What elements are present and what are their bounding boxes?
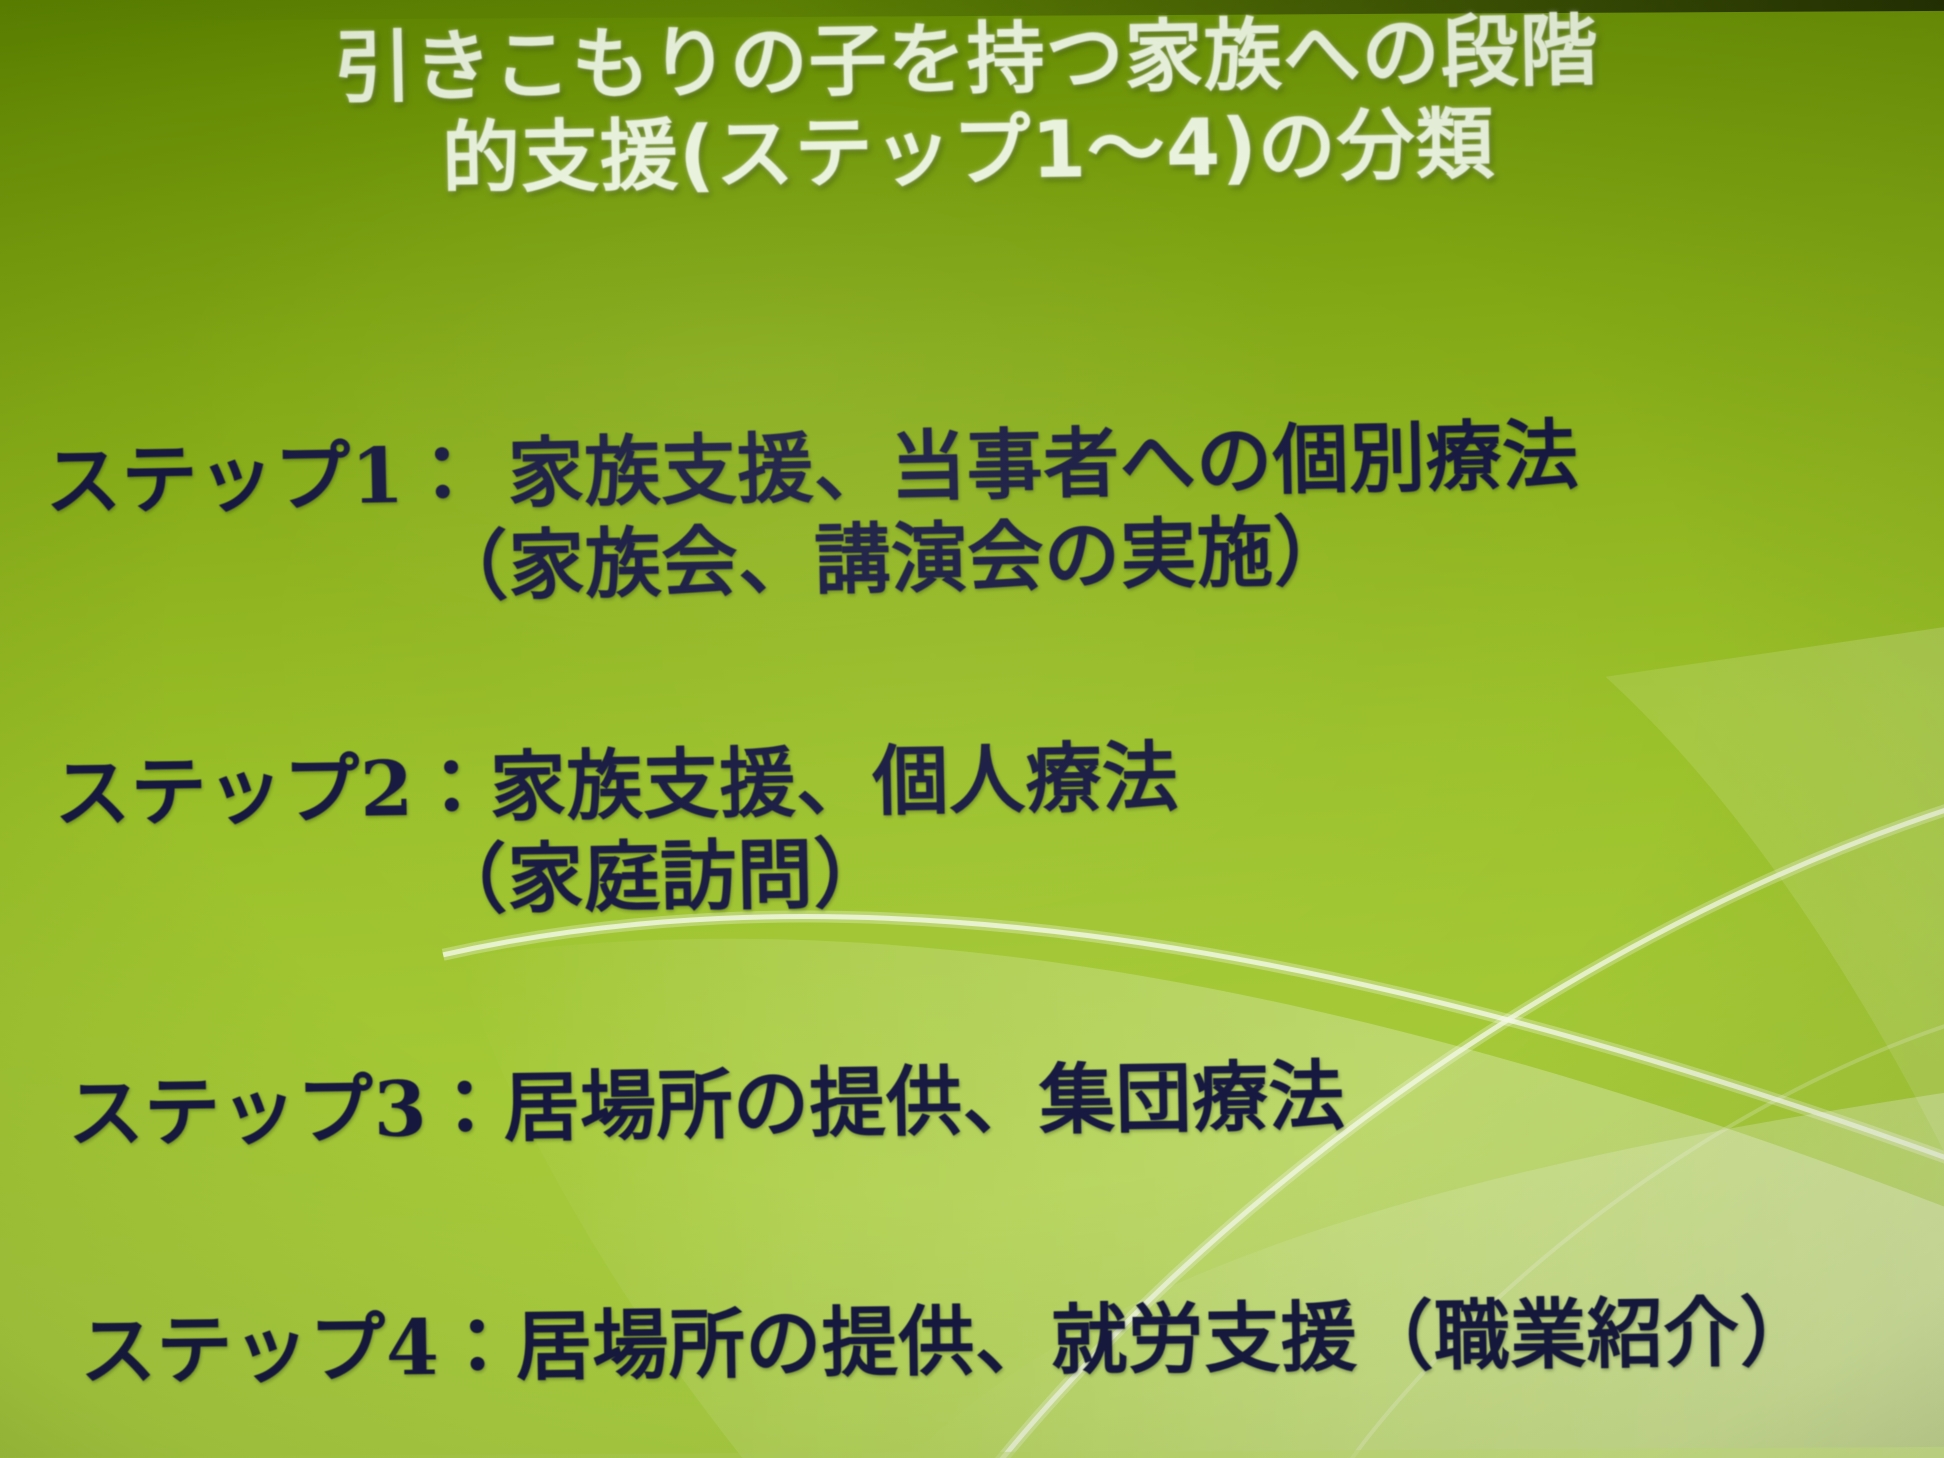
step-1-block: ステップ1： 家族支援、当事者への個別療法 （家族会、講演会の実施） xyxy=(44,409,1582,620)
step-4-block: ステップ4：居場所の提供、就労支援（職業紹介） xyxy=(79,1286,1817,1398)
step-3-line-1: ステップ3：居場所の提供、集団療法 xyxy=(67,1050,1346,1160)
step-2-line-1: ステップ2：家族支援、個人療法 xyxy=(53,732,1179,841)
step-2-block: ステップ2：家族支援、個人療法 （家庭訪問） xyxy=(53,732,1181,933)
step-3-block: ステップ3：居場所の提供、集団療法 xyxy=(67,1050,1346,1160)
step-4-line-1: ステップ4：居場所の提供、就労支援（職業紹介） xyxy=(79,1286,1817,1398)
projected-slide: 引きこもりの子を持つ家族への段階 的支援(ステップ1～4)の分類 ステップ1： … xyxy=(0,0,1944,1458)
slide-body: ステップ1： 家族支援、当事者への個別療法 （家族会、講演会の実施） ステップ2… xyxy=(0,0,1944,1458)
step-2-line-2: （家庭訪問） xyxy=(55,823,1181,932)
slide-photo: 引きこもりの子を持つ家族への段階 的支援(ステップ1～4)の分類 ステップ1： … xyxy=(0,0,1944,1458)
